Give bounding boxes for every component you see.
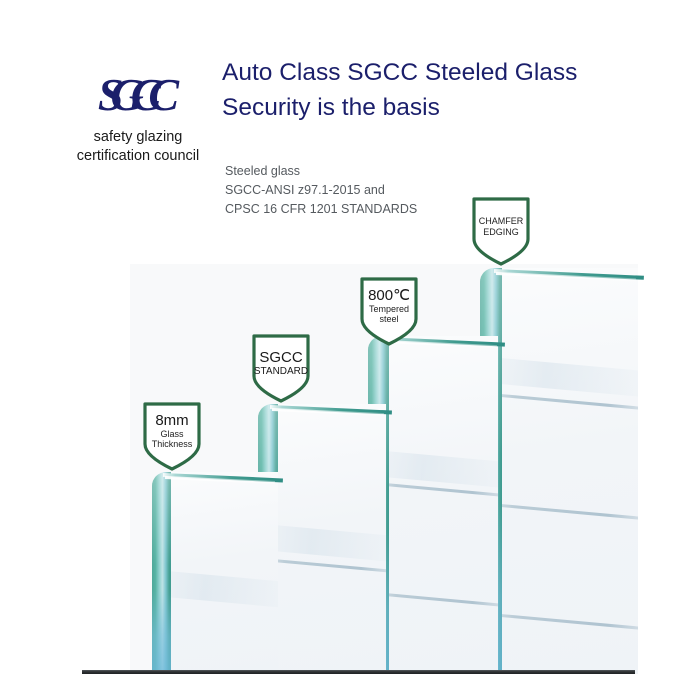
badge-temperature-value: 800℃ bbox=[368, 288, 410, 304]
badge-standard-value: SGCC bbox=[259, 350, 302, 366]
badge-temperature-line1: Tempered bbox=[369, 304, 409, 315]
badge-thickness: 8mm Glass Thickness bbox=[141, 400, 203, 472]
sgcc-logo-caption-line1: safety glazing bbox=[48, 128, 228, 147]
badge-standard: SGCC STANDARD bbox=[250, 332, 312, 404]
badge-edging-line1: CHAMFER bbox=[479, 216, 524, 227]
badge-temperature: 800℃ Tempered steel bbox=[358, 275, 420, 347]
badge-thickness-value: 8mm bbox=[155, 413, 188, 429]
poster-canvas: SGCC safety glazing certification counci… bbox=[0, 0, 700, 700]
badge-edging-line2: EDGING bbox=[483, 227, 519, 238]
glass-panel-4 bbox=[480, 268, 638, 674]
badge-temperature-line2: steel bbox=[379, 314, 398, 325]
glass-panel-1 bbox=[152, 472, 278, 674]
badge-thickness-line2: Thickness bbox=[152, 439, 193, 450]
sgcc-logo-caption-line2: certification council bbox=[48, 147, 228, 166]
page-title: Auto Class SGCC Steeled Glass Security i… bbox=[222, 56, 662, 126]
floor-baseline bbox=[82, 670, 635, 674]
badge-edging: CHAMFER EDGING bbox=[470, 195, 532, 267]
page-title-line1: Auto Class SGCC Steeled Glass bbox=[222, 56, 662, 91]
badge-thickness-line1: Glass bbox=[160, 429, 183, 440]
glass-panel-4-face bbox=[480, 268, 638, 674]
badge-standard-line1: STANDARD bbox=[254, 366, 308, 378]
glass-panel-3 bbox=[368, 336, 498, 674]
page-title-line2: Security is the basis bbox=[222, 91, 662, 126]
sgcc-logo-caption: safety glazing certification council bbox=[48, 128, 228, 165]
glass-panel-1-edge bbox=[152, 472, 171, 674]
sgcc-logo-mark: SGCC bbox=[48, 72, 228, 118]
standards-text-line1: Steeled glass bbox=[225, 162, 525, 181]
sgcc-logo: SGCC safety glazing certification counci… bbox=[48, 72, 228, 165]
